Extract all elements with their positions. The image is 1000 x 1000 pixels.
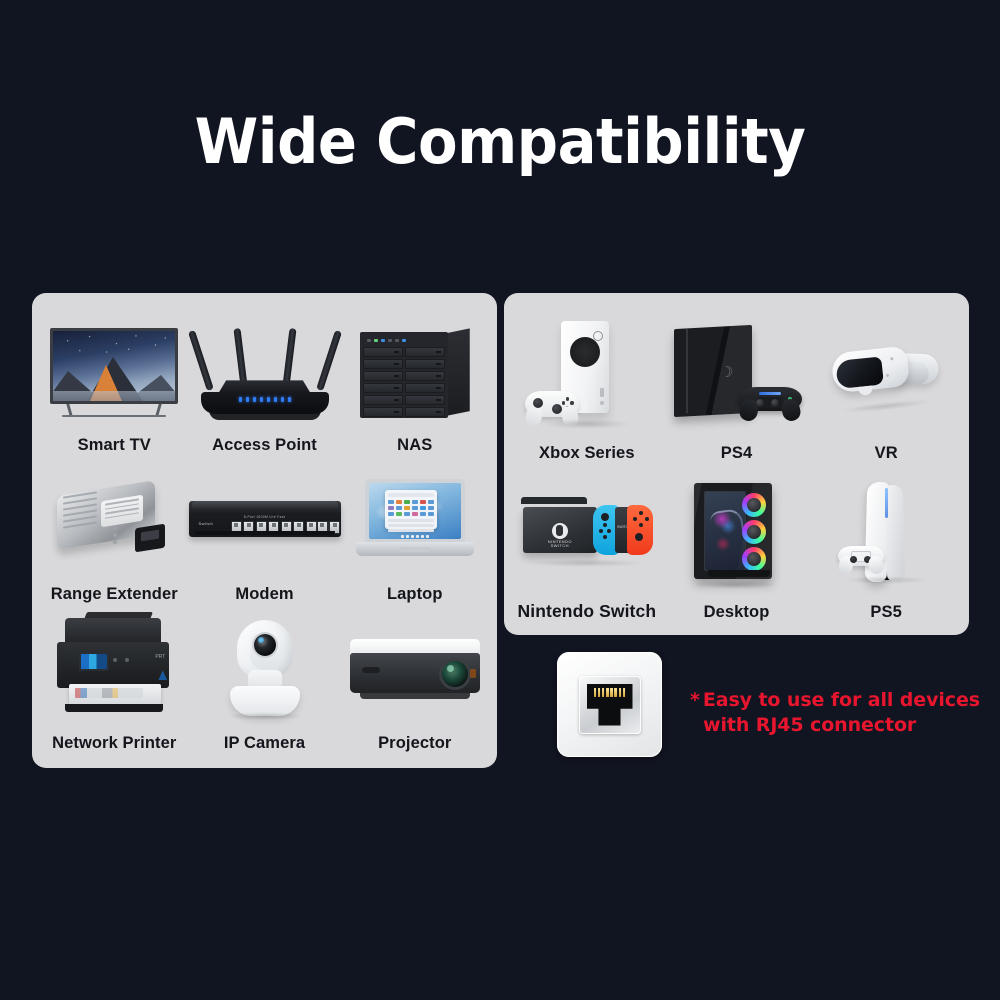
device-item-access-point[interactable]: Access Point (189, 309, 341, 458)
range-extender-icon (40, 458, 189, 585)
device-item-ps4[interactable]: ☽ PS4 (662, 307, 812, 466)
smart-tv-icon (40, 309, 189, 436)
device-label: PS4 (721, 444, 753, 466)
device-item-xbox-series[interactable]: Xbox Series (512, 307, 662, 466)
device-label: Desktop (704, 603, 770, 625)
gaming-devices-panel: Xbox Series ☽ (504, 293, 969, 635)
nas-server-icon (341, 309, 490, 436)
projector-icon (341, 607, 490, 734)
laptop-icon (341, 458, 490, 585)
xbox-series-icon (512, 307, 662, 444)
device-item-laptop[interactable]: Laptop (341, 458, 490, 607)
device-label: Range Extender (51, 585, 178, 607)
device-item-nintendo-switch[interactable]: NINTENDO SWITCH SWITCH (512, 466, 662, 625)
device-label: NAS (397, 436, 432, 458)
printer-logo-text: PRT (155, 654, 165, 660)
device-label: VR (875, 444, 898, 466)
modem-switch-icon: Switch 8-Port 1000M Lite Fast (189, 458, 341, 585)
device-item-vr[interactable]: VR (811, 307, 961, 466)
rj45-port-icon (557, 652, 662, 757)
ip-camera-icon (189, 607, 341, 734)
device-label: Network Printer (52, 734, 176, 756)
device-label: Smart TV (78, 436, 151, 458)
page-title: Wide Compatibility (35, 105, 965, 178)
footnote-line-1: Easy to use for all devices (703, 689, 980, 711)
modem-brand-text: Switch (199, 521, 214, 526)
device-item-ip-camera[interactable]: IP Camera (189, 607, 341, 756)
device-label: IP Camera (224, 734, 305, 756)
device-item-ps5[interactable]: PS5 (811, 466, 961, 625)
device-label: Modem (235, 585, 293, 607)
device-item-network-printer[interactable]: PRT Network Printer (40, 607, 189, 756)
device-item-range-extender[interactable]: Range Extender (40, 458, 189, 607)
device-label: Projector (378, 734, 451, 756)
device-label: Access Point (212, 436, 317, 458)
network-devices-panel: Smart TV Access Point (32, 293, 497, 768)
compatibility-infographic: Wide Compatibility (0, 0, 1000, 1000)
rj45-footnote-text: *Easy to use for all devices with RJ45 c… (690, 688, 990, 738)
playstation-4-icon: ☽ (662, 307, 812, 444)
network-printer-icon: PRT (40, 607, 189, 734)
modem-caption-text: 8-Port 1000M Lite Fast (244, 515, 285, 519)
device-label: Xbox Series (539, 444, 635, 466)
device-label: Nintendo Switch (518, 602, 657, 625)
footnote-line-2: with RJ45 connector (690, 713, 916, 738)
device-item-nas[interactable]: NAS (341, 309, 490, 458)
vr-headset-icon (811, 307, 961, 444)
switch-dock-text: NINTENDO SWITCH (541, 540, 578, 549)
wireless-router-icon (189, 309, 341, 436)
desktop-pc-icon (662, 466, 812, 603)
device-label: PS5 (870, 603, 902, 625)
device-item-desktop[interactable]: Desktop (662, 466, 812, 625)
device-label: Laptop (387, 585, 443, 607)
asterisk-marker: * (690, 689, 700, 711)
playstation-5-icon (811, 466, 961, 603)
device-item-smart-tv[interactable]: Smart TV (40, 309, 189, 458)
device-item-projector[interactable]: Projector (341, 607, 490, 756)
device-item-modem[interactable]: Switch 8-Port 1000M Lite Fast Modem (189, 458, 341, 607)
nintendo-switch-icon: NINTENDO SWITCH SWITCH (512, 466, 662, 602)
